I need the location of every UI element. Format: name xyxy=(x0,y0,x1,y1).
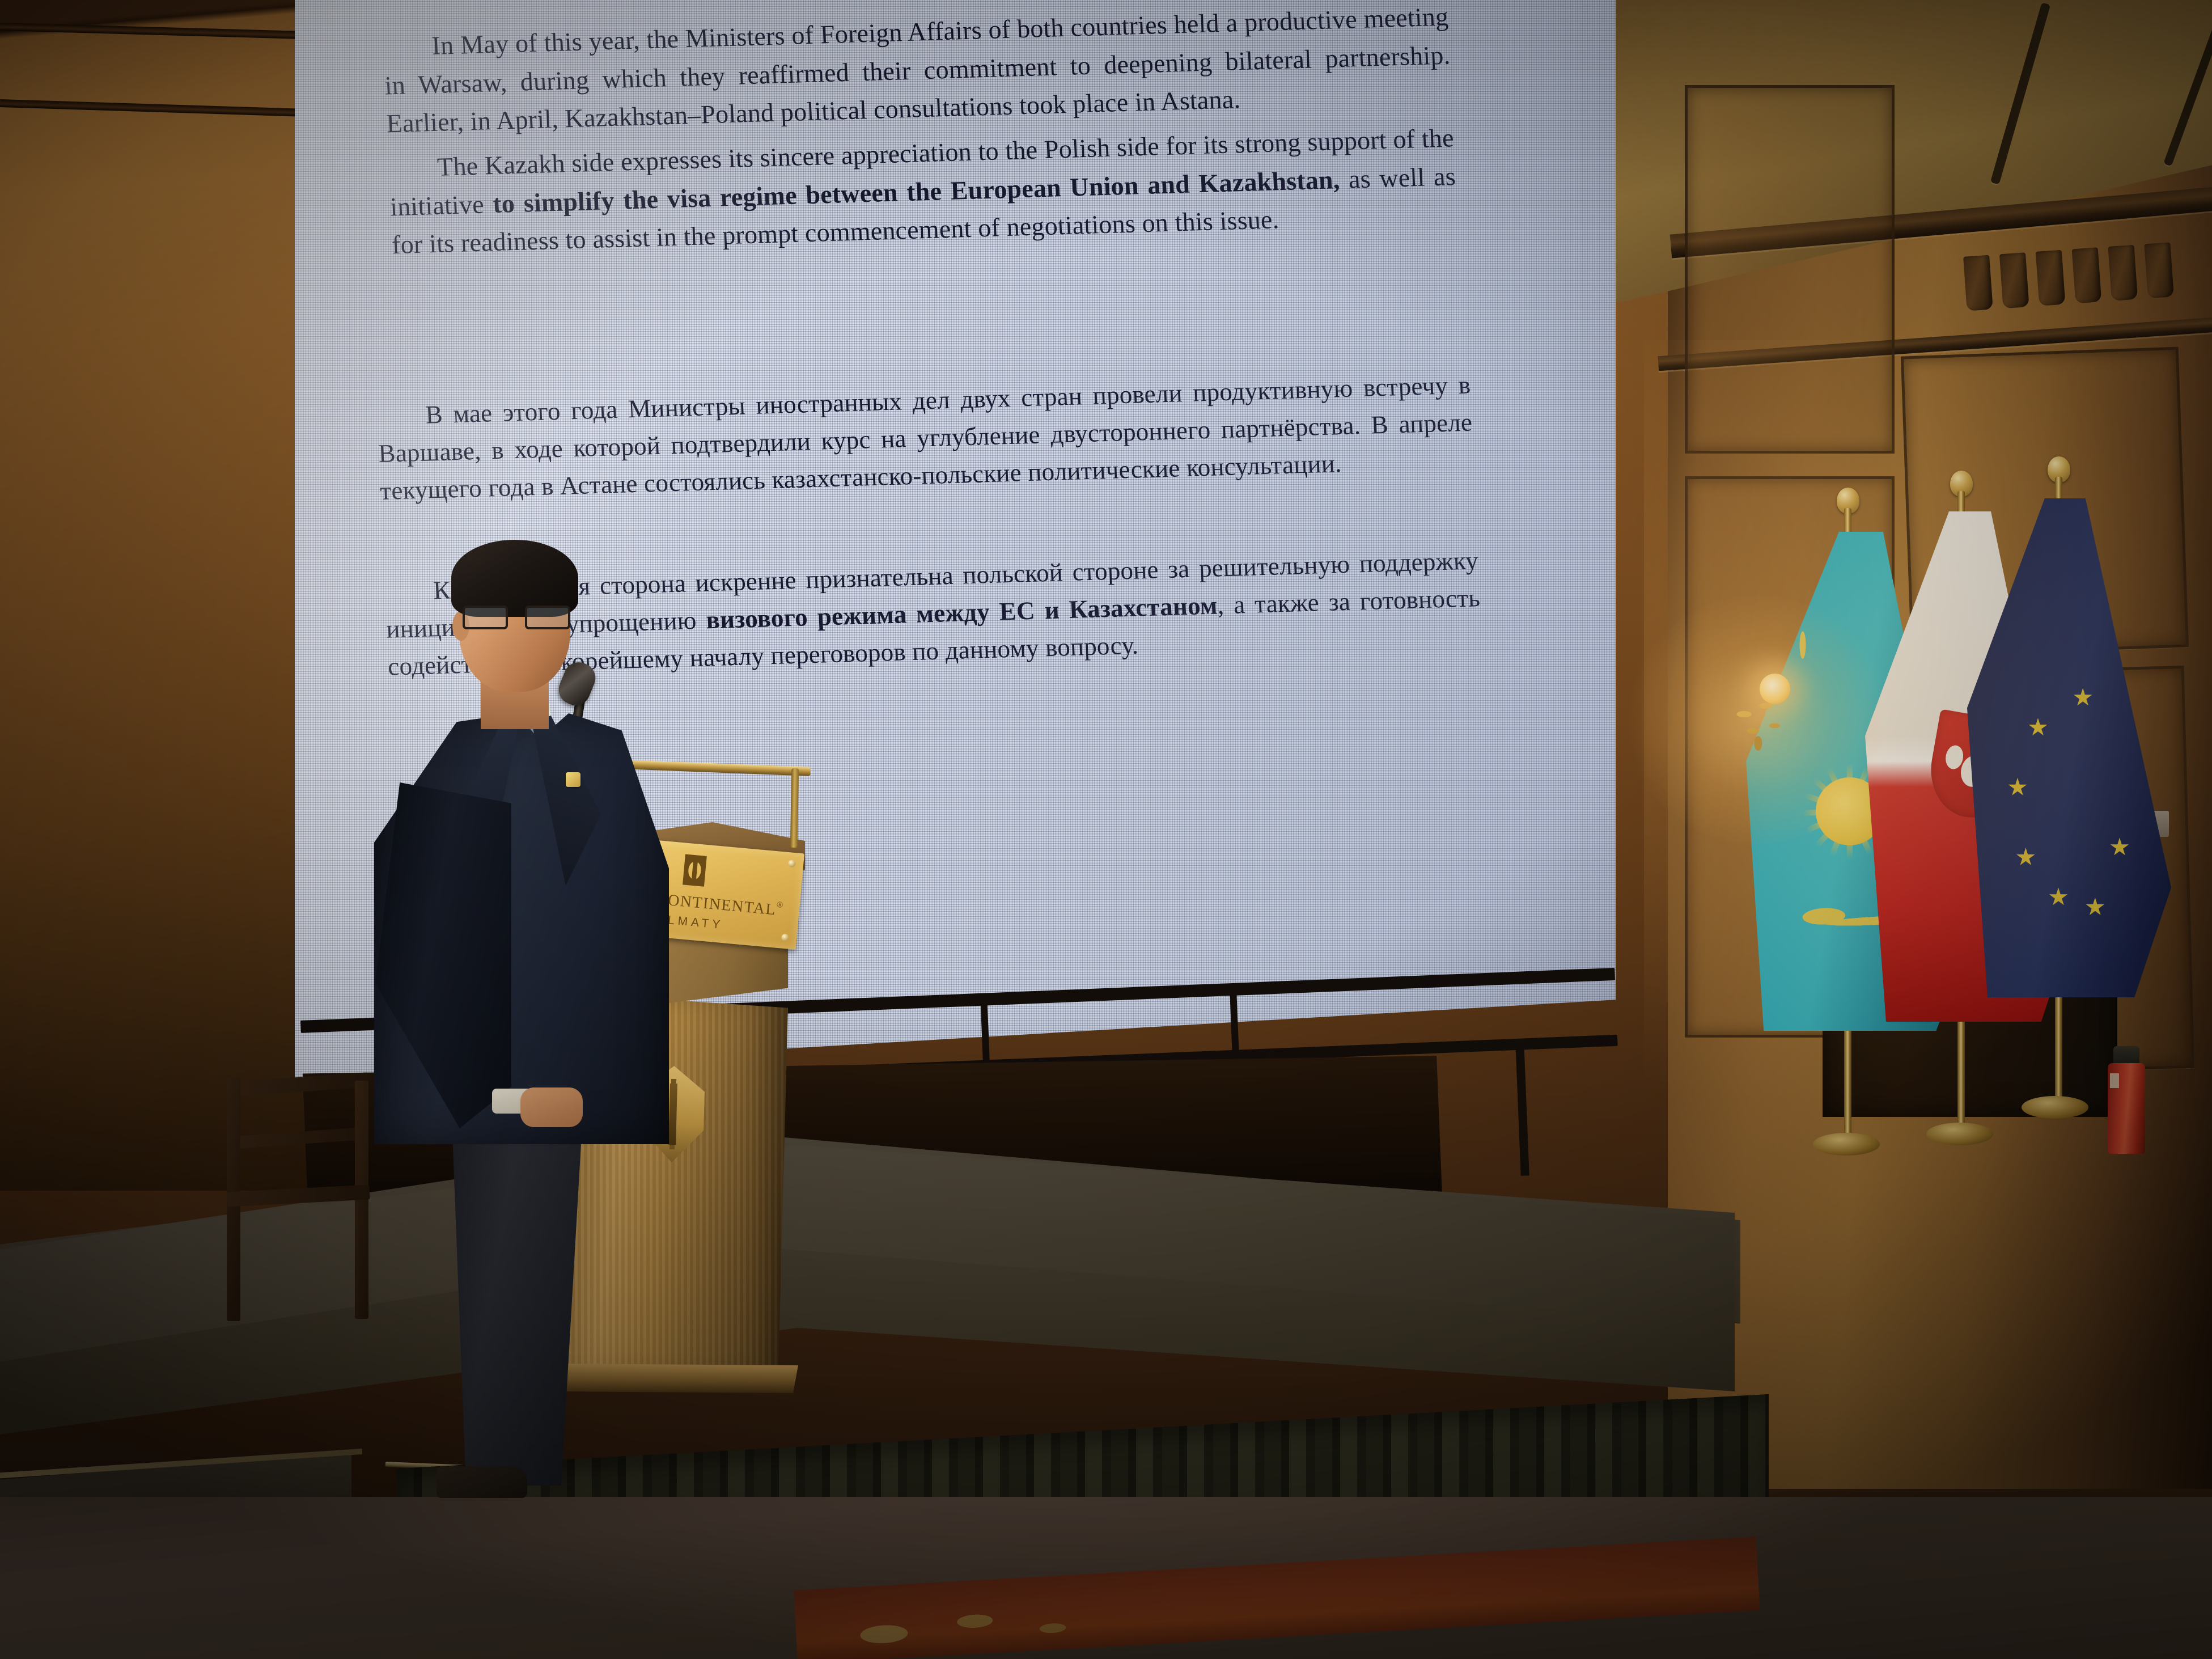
fire-extinguisher xyxy=(2108,1046,2145,1154)
eyeglass-lens-right xyxy=(525,606,570,629)
speaker-person xyxy=(340,516,737,1400)
conference-room-photo: In May of this year, the Ministers of Fo… xyxy=(0,0,2212,1659)
corbel xyxy=(2036,250,2066,306)
plaque-screw xyxy=(781,934,789,942)
slide-paragraph-english-1: In May of this year, the Ministers of Fo… xyxy=(382,0,1452,143)
slide-paragraph-russian-1: В мае этого года Министры иностранных де… xyxy=(376,366,1474,510)
eu-star-icon xyxy=(2016,848,2035,867)
truss-brace xyxy=(1230,989,1239,1057)
speaker-eyeglasses-icon xyxy=(463,606,570,625)
speaker-lapel-pin-icon xyxy=(566,772,580,787)
wall-panel xyxy=(1685,85,1895,454)
flag-stand-base xyxy=(1926,1123,1993,1145)
eu-star-icon xyxy=(2028,718,2048,737)
extinguisher-label xyxy=(2110,1073,2119,1088)
corbel xyxy=(1963,255,1993,311)
eu-star-icon xyxy=(2110,837,2129,857)
eu-star-icon xyxy=(2086,898,2105,917)
flag-european-union xyxy=(1967,456,2194,1125)
corbel xyxy=(2072,247,2102,303)
wall-sconce xyxy=(1718,669,1803,771)
speaker-shoe xyxy=(437,1466,527,1498)
eu-star-icon xyxy=(2073,688,2092,707)
plaque-registered-mark: ® xyxy=(776,900,784,909)
flag-stand-base xyxy=(2022,1096,2088,1119)
microphone-stand-post xyxy=(790,768,799,848)
slide-paragraph-english-2: The Kazakh side expresses its sincere ap… xyxy=(388,118,1458,264)
sconce-ornament-icon xyxy=(1730,699,1794,751)
flag-cloth-eu xyxy=(1967,498,2171,997)
slide-ru2-bold: визового режима между ЕС и Казахстаном xyxy=(705,591,1218,634)
eu-star-icon xyxy=(2049,887,2068,907)
corbel xyxy=(1999,252,2029,308)
plaque-screw xyxy=(788,860,796,867)
speaker-hand xyxy=(520,1087,583,1127)
eyeglass-lens-left xyxy=(463,606,508,629)
light-bulb-icon xyxy=(1760,674,1790,704)
corbel xyxy=(2144,242,2174,298)
corbel xyxy=(2108,245,2138,301)
eu-star-icon xyxy=(2008,778,2027,797)
truss-brace xyxy=(980,998,990,1066)
